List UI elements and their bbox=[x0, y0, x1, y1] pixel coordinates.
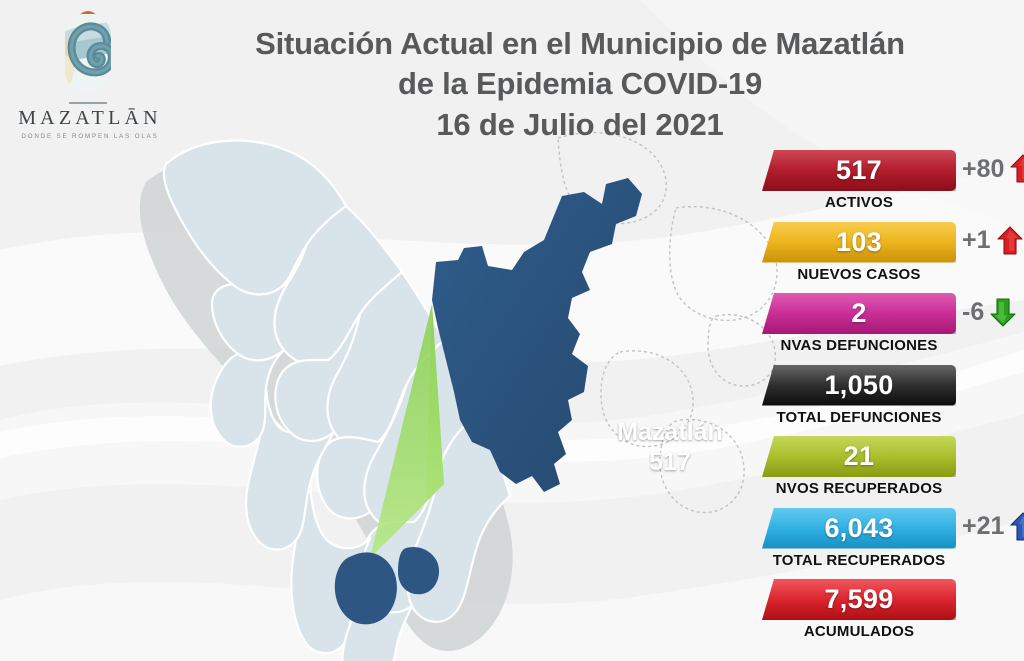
stat-label-activos: ACTIVOS bbox=[751, 194, 967, 211]
stat-delta-text-total-recuperados: +21 bbox=[962, 512, 1004, 541]
mazatlan-shell-wave-logo-icon bbox=[51, 8, 125, 98]
stat-value-nvos-recuperados: 21 bbox=[844, 441, 875, 472]
covid-stats-panel: 517 ACTIVOS +80 103 NUEVOS CASOS +1 bbox=[740, 150, 1024, 651]
stat-value-total-defunciones: 1,050 bbox=[824, 370, 893, 401]
stat-bar-nvas-defunciones: 2 bbox=[762, 293, 956, 334]
stat-bar-holder-total-recuperados: 6,043 bbox=[762, 508, 956, 549]
logo-divider bbox=[69, 102, 107, 104]
stat-delta-nvos-recuperados bbox=[962, 440, 994, 470]
map-mazatlan-actual-location bbox=[335, 552, 397, 624]
page-title: Situación Actual en el Municipio de Maza… bbox=[180, 24, 980, 145]
stat-bar-holder-total-defunciones: 1,050 bbox=[762, 365, 956, 406]
stat-delta-text-nuevos-casos: +1 bbox=[962, 226, 991, 255]
page-title-line-2: de la Epidemia COVID-19 bbox=[180, 64, 980, 104]
page-title-line-1: Situación Actual en el Municipio de Maza… bbox=[180, 24, 980, 64]
stat-label-nvas-defunciones: NVAS DEFUNCIONES bbox=[751, 337, 967, 354]
arrow-up-blue-icon bbox=[1010, 512, 1024, 542]
stat-label-nuevos-casos: NUEVOS CASOS bbox=[751, 266, 967, 283]
stat-label-total-recuperados: TOTAL RECUPERADOS bbox=[751, 552, 967, 569]
stat-bar-holder-acumulados: 7,599 bbox=[762, 579, 956, 620]
stat-bar-total-recuperados: 6,043 bbox=[762, 508, 956, 549]
logo-wordmark: MAZATLĀN bbox=[8, 108, 168, 128]
stat-label-total-defunciones: TOTAL DEFUNCIONES bbox=[751, 409, 967, 426]
stat-delta-total-recuperados: +21 bbox=[962, 512, 1024, 542]
stat-row-total-recuperados: 6,043 TOTAL RECUPERADOS +21 bbox=[740, 508, 1024, 580]
stat-value-activos: 517 bbox=[836, 155, 882, 186]
arrow-down-green-icon bbox=[990, 297, 1016, 327]
stat-delta-total-defunciones bbox=[962, 369, 994, 399]
arrow-up-red-icon bbox=[997, 226, 1023, 256]
page-title-line-3: 16 de Julio del 2021 bbox=[180, 105, 980, 145]
stat-bar-activos: 517 bbox=[762, 150, 956, 191]
logo-tagline: DONDE SE ROMPEN LAS OLAS bbox=[8, 133, 168, 140]
stat-bar-nuevos-casos: 103 bbox=[762, 222, 956, 263]
stat-bar-holder-nvos-recuperados: 21 bbox=[762, 436, 956, 477]
stat-row-acumulados: 7,599 ACUMULADOS bbox=[740, 579, 1024, 651]
stat-bar-holder-activos: 517 bbox=[762, 150, 956, 191]
stat-row-total-defunciones: 1,050 TOTAL DEFUNCIONES bbox=[740, 365, 1024, 437]
stat-row-activos: 517 ACTIVOS +80 bbox=[740, 150, 1024, 222]
stat-bar-acumulados: 7,599 bbox=[762, 579, 956, 620]
stat-delta-text-nvas-defunciones: -6 bbox=[962, 298, 984, 327]
stat-delta-nuevos-casos: +1 bbox=[962, 226, 1023, 256]
stat-bar-total-defunciones: 1,050 bbox=[762, 365, 956, 406]
sinaloa-municipality-map: Mazatlán 517 bbox=[120, 120, 800, 661]
stat-value-nvas-defunciones: 2 bbox=[851, 298, 866, 329]
stat-row-nuevos-casos: 103 NUEVOS CASOS +1 bbox=[740, 222, 1024, 294]
stat-row-nvas-defunciones: 2 NVAS DEFUNCIONES -6 bbox=[740, 293, 1024, 365]
stat-label-nvos-recuperados: NVOS RECUPERADOS bbox=[751, 480, 967, 497]
stat-bar-nvos-recuperados: 21 bbox=[762, 436, 956, 477]
stat-bar-holder-nvas-defunciones: 2 bbox=[762, 293, 956, 334]
stat-delta-text-activos: +80 bbox=[962, 155, 1004, 184]
stat-delta-activos: +80 bbox=[962, 154, 1024, 184]
stat-bar-holder-nuevos-casos: 103 bbox=[762, 222, 956, 263]
stat-delta-nvas-defunciones: -6 bbox=[962, 297, 1016, 327]
stat-label-acumulados: ACUMULADOS bbox=[751, 623, 967, 640]
stat-value-nuevos-casos: 103 bbox=[836, 227, 882, 258]
map-svg bbox=[120, 120, 800, 661]
mazatlan-logo: MAZATLĀN DONDE SE ROMPEN LAS OLAS bbox=[8, 6, 168, 146]
stat-value-total-recuperados: 6,043 bbox=[824, 513, 893, 544]
arrow-up-red-icon bbox=[1010, 154, 1024, 184]
stat-row-nvos-recuperados: 21 NVOS RECUPERADOS bbox=[740, 436, 1024, 508]
stat-delta-acumulados bbox=[962, 583, 994, 613]
stat-value-acumulados: 7,599 bbox=[824, 584, 893, 615]
